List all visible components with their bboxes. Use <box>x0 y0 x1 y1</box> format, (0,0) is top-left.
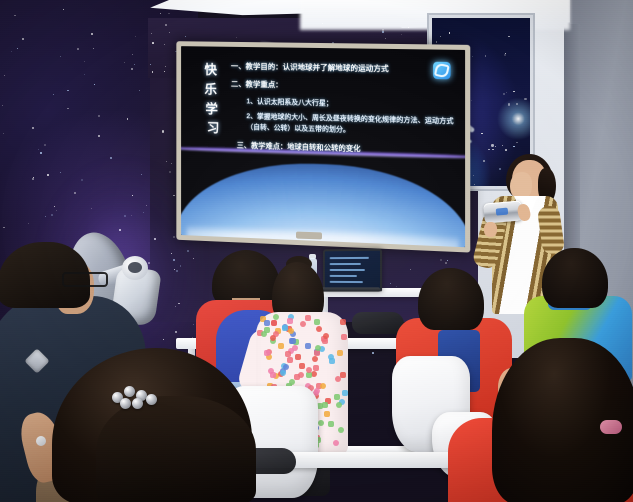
star <box>481 133 483 135</box>
star <box>483 160 485 162</box>
jacket-motif <box>261 331 267 337</box>
star <box>91 208 92 209</box>
star <box>485 55 487 57</box>
jacket-motif <box>292 345 298 351</box>
jacket-motif <box>311 371 317 377</box>
star <box>516 103 518 105</box>
star <box>372 352 374 354</box>
star <box>135 36 136 37</box>
photo-scene: 快 乐 学 习 一、教学目的：认识地球并了解地球的运动方式 二、教学重点： 1、… <box>0 0 633 502</box>
jacket-motif <box>334 394 340 400</box>
vertical-title-char: 学 <box>202 99 221 119</box>
jacket-motif <box>313 365 319 371</box>
jacket-motif <box>316 326 322 332</box>
slide-bullet: 一、教学目的：认识地球并了解地球的运动方式 <box>231 61 455 76</box>
jacket-motif <box>305 343 311 349</box>
hair <box>542 248 608 308</box>
star <box>124 215 126 217</box>
jacket-motif <box>322 402 328 408</box>
jacket-motif <box>328 354 334 360</box>
star <box>471 100 472 101</box>
jacket-motif <box>342 390 348 396</box>
pearl <box>146 394 157 405</box>
hair <box>418 268 484 330</box>
slide-vertical-title: 快 乐 学 习 <box>200 60 221 138</box>
laptop-screen-line <box>330 269 365 271</box>
pearl <box>124 386 135 397</box>
star <box>44 144 46 146</box>
vertical-title-char: 乐 <box>200 80 221 100</box>
jacket-motif <box>278 343 284 349</box>
astronaut-visor <box>128 262 142 273</box>
tv-screen: 快 乐 学 习 一、教学目的：认识地球并了解地球的运动方式 二、教学重点： 1、… <box>181 46 465 247</box>
jacket-motif <box>306 367 312 373</box>
star <box>491 144 493 146</box>
star <box>152 42 154 44</box>
star <box>94 84 95 85</box>
star <box>28 223 29 224</box>
jacket-motif <box>320 383 326 389</box>
jacket-motif <box>288 328 294 334</box>
star <box>436 41 437 42</box>
laptop-screen-line <box>330 281 363 283</box>
star <box>164 44 165 45</box>
star <box>131 68 133 70</box>
slide-bullet: 三、教学难点：地球自转和公转的变化 <box>237 139 455 156</box>
left-hand <box>484 222 497 237</box>
star <box>169 171 171 173</box>
vr-headset-mid[interactable] <box>352 312 404 334</box>
star <box>132 54 133 55</box>
star <box>3 227 5 229</box>
star <box>492 149 494 151</box>
ring <box>36 436 46 446</box>
star <box>93 48 94 49</box>
jacket-motif <box>323 333 329 339</box>
flat-screen-tv[interactable]: 快 乐 学 习 一、教学目的：认识地球并了解地球的运动方式 二、教学重点： 1、… <box>176 41 470 252</box>
star <box>110 157 112 159</box>
slide-bullet: 二、教学重点： <box>231 78 455 93</box>
presentation-slide: 快 乐 学 习 一、教学目的：认识地球并了解地球的运动方式 二、教学重点： 1、… <box>181 46 465 247</box>
jacket-motif <box>295 354 301 360</box>
slide-bullet-list: 一、教学目的：认识地球并了解地球的运动方式 二、教学重点： 1、认识太阳系及八大… <box>231 61 455 157</box>
jacket-motif <box>264 350 270 356</box>
jacket-motif <box>287 318 293 324</box>
jacket-motif <box>328 421 334 427</box>
jacket-motif <box>280 370 286 376</box>
star <box>84 61 85 62</box>
jacket-motif <box>298 372 304 378</box>
star <box>143 212 144 213</box>
star <box>67 108 69 110</box>
jacket-motif <box>338 427 344 433</box>
tv-mount <box>296 232 322 240</box>
jacket-motif <box>336 402 342 408</box>
star <box>408 27 409 28</box>
star <box>165 66 166 67</box>
hair-tie <box>600 420 622 434</box>
star <box>164 71 165 72</box>
jacket-motif <box>264 320 270 326</box>
star <box>440 36 441 37</box>
star <box>506 92 507 93</box>
star <box>22 38 24 40</box>
laptop-screen-line <box>330 275 357 277</box>
slide-bullet: 1、认识太阳系及八大行星； <box>246 96 454 111</box>
jacket-motif <box>318 420 324 426</box>
jacket-motif <box>324 411 330 417</box>
star <box>63 9 64 10</box>
jacket-motif <box>335 376 341 382</box>
star <box>474 184 475 185</box>
star <box>524 98 526 100</box>
jacket-motif <box>287 357 293 363</box>
star <box>410 269 411 270</box>
pearl <box>120 398 131 409</box>
jacket-motif <box>340 372 346 378</box>
star <box>160 13 161 14</box>
slide-text-block: 快 乐 学 习 一、教学目的：认识地球并了解地球的运动方式 二、教学重点： 1、… <box>187 52 459 247</box>
jacket-motif <box>270 372 276 378</box>
star <box>504 54 506 56</box>
star <box>447 260 448 261</box>
star <box>74 192 76 194</box>
jacket-motif <box>300 321 306 327</box>
star <box>440 259 442 261</box>
laptop-keyboard[interactable] <box>318 287 381 291</box>
jacket-motif <box>315 345 321 351</box>
jacket-motif <box>290 338 296 344</box>
star <box>166 161 167 162</box>
star <box>131 215 132 216</box>
vertical-title-char: 快 <box>200 60 221 80</box>
jacket-motif <box>337 350 343 356</box>
star <box>505 149 507 151</box>
slide-bullet: 2、掌握地球的大小、周长及昼夜转换的变化规律的方法、运动方式（自转、公转）以及五… <box>246 112 454 139</box>
jacket-motif <box>333 440 339 446</box>
ponytail <box>96 396 256 502</box>
vertical-title-char: 习 <box>205 118 221 138</box>
star <box>11 51 12 52</box>
laptop-screen-line <box>330 257 369 259</box>
eyeglasses <box>62 272 108 287</box>
jacket-motif <box>299 363 305 369</box>
pearl <box>132 398 143 409</box>
star <box>193 324 194 325</box>
jacket-motif <box>305 315 311 321</box>
jacket-motif <box>341 334 347 340</box>
star <box>132 195 133 196</box>
laptop-screen-line <box>330 263 361 265</box>
star <box>67 90 69 92</box>
jacket-motif <box>314 319 320 325</box>
star <box>32 178 34 180</box>
star <box>513 146 515 148</box>
star <box>2 105 3 106</box>
star <box>91 33 93 35</box>
jacket-motif <box>271 320 277 326</box>
jacket-motif <box>312 356 318 362</box>
swirl-logo-icon <box>433 62 451 80</box>
star <box>502 145 503 146</box>
star <box>236 37 237 38</box>
jacket-motif <box>283 364 289 370</box>
star <box>127 118 129 120</box>
star <box>322 23 323 24</box>
jacket-motif <box>340 319 346 325</box>
laptop-screen[interactable] <box>323 249 382 292</box>
star <box>445 262 447 264</box>
star <box>51 214 53 216</box>
